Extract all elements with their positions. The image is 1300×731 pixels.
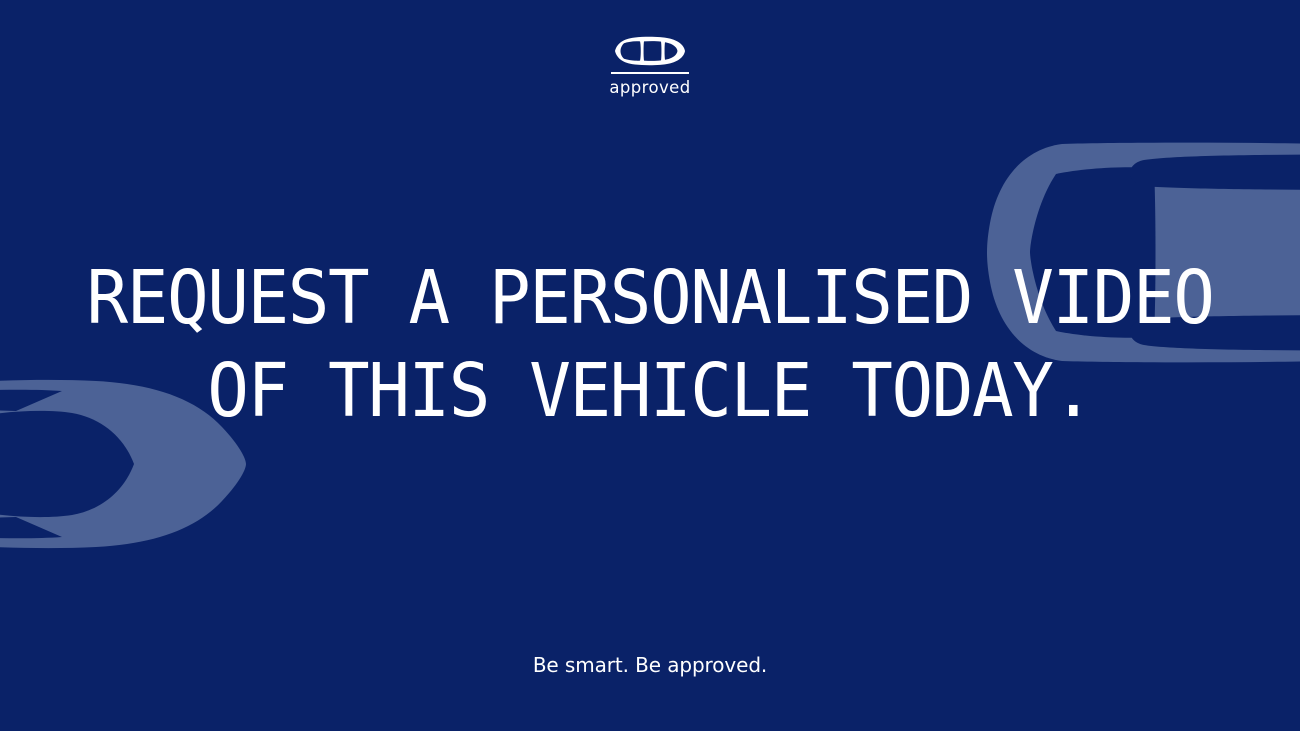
car-top-view-icon [614,36,686,66]
logo-wordmark: approved [609,80,690,97]
brand-tagline: Be smart. Be approved. [0,655,1300,675]
logo-divider-rule [611,72,689,74]
headline-line-2: OF THIS VEHICLE TODAY. [68,355,1231,428]
promo-banner: approved REQUEST A PERSONALISED VIDEO OF… [0,0,1300,731]
brand-logo: approved [0,36,1300,97]
page-title: REQUEST A PERSONALISED VIDEO OF THIS VEH… [0,262,1300,427]
headline-line-1: REQUEST A PERSONALISED VIDEO [68,262,1231,335]
